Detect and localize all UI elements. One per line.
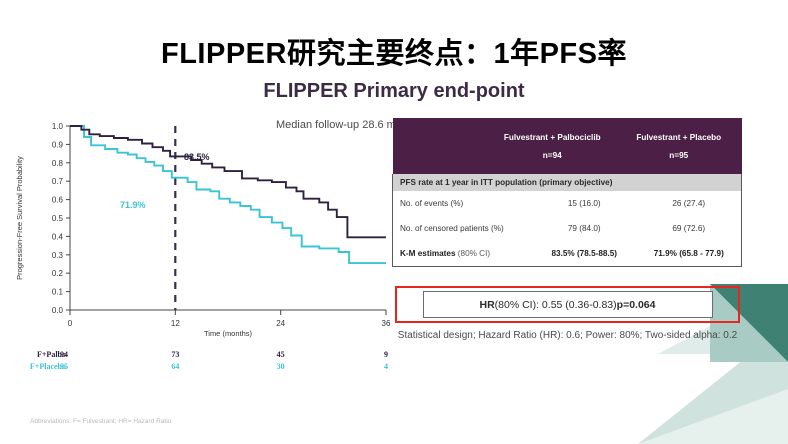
header-spacer bbox=[393, 118, 489, 174]
risk-row-value: 9 bbox=[373, 350, 399, 359]
row-value-palbociclib: 83.5% (78.5-88.5) bbox=[532, 249, 637, 258]
y-axis-title: Progression-Free Survival Probability bbox=[15, 156, 24, 280]
header-col-palbociclib: Fulvestrant + Palbociclib n=94 bbox=[489, 118, 616, 174]
table-section-band: PFS rate at 1 year in ITT population (pr… bbox=[393, 174, 741, 191]
results-table: Fulvestrant + Palbociclib n=94 Fulvestra… bbox=[393, 118, 742, 267]
risk-row-value: 95 bbox=[60, 362, 86, 371]
x-tick-label: 36 bbox=[382, 319, 391, 328]
y-tick-label: 0.8 bbox=[52, 159, 64, 168]
abbreviations-note: Abbreviations: F= Fulvestrant; HR= Hazar… bbox=[30, 418, 171, 425]
row-label-suffix: (80% CI) bbox=[456, 249, 491, 258]
x-tick-label: 12 bbox=[171, 319, 180, 328]
row-label: K-M estimates (80% CI) bbox=[393, 249, 532, 258]
x-tick-label: 24 bbox=[276, 319, 285, 328]
table-row: No. of events (%) 15 (16.0) 26 (27.4) bbox=[393, 191, 741, 216]
row-value-placebo: 26 (27.4) bbox=[637, 199, 742, 208]
row-label-part: K-M bbox=[400, 249, 418, 258]
hr-pvalue: p=0.064 bbox=[617, 299, 656, 311]
row-value-palbociclib: 79 (84.0) bbox=[532, 224, 637, 233]
x-tick-label: 0 bbox=[68, 319, 73, 328]
header-col-placebo: Fulvestrant + Placebo n=95 bbox=[616, 118, 743, 174]
y-tick-label: 0.3 bbox=[52, 251, 64, 260]
hazard-ratio-value-box: HR (80% CI): 0.55 (0.36-0.83) p=0.064 bbox=[423, 291, 713, 318]
x-axis-title: Time (months) bbox=[204, 329, 253, 338]
row-value-placebo: 71.9% (65.8 - 77.9) bbox=[637, 249, 742, 258]
row-value-palbociclib: 15 (16.0) bbox=[532, 199, 637, 208]
y-tick-label: 0.2 bbox=[52, 269, 64, 278]
annotation-71-9-percent: 71.9% bbox=[120, 200, 146, 210]
y-tick-label: 0.7 bbox=[52, 177, 64, 186]
y-tick-label: 0.0 bbox=[52, 306, 64, 315]
risk-row-value: 4 bbox=[373, 362, 399, 371]
table-row: K-M estimates (80% CI) 83.5% (78.5-88.5)… bbox=[393, 241, 741, 266]
header-arm-n: n=95 bbox=[669, 151, 688, 160]
risk-row-value: 30 bbox=[268, 362, 294, 371]
hazard-ratio-highlight-box: HR (80% CI): 0.55 (0.36-0.83) p=0.064 bbox=[395, 286, 740, 323]
row-value-placebo: 69 (72.6) bbox=[637, 224, 742, 233]
risk-row-value: 45 bbox=[268, 350, 294, 359]
km-curve-palbociclib bbox=[70, 126, 386, 237]
risk-row-value: 94 bbox=[60, 350, 86, 359]
kaplan-meier-chart: 0.00.10.20.30.40.50.60.70.80.91.0 012243… bbox=[8, 112, 400, 342]
header-arm-label: Fulvestrant + Palbociclib bbox=[504, 133, 601, 142]
numbers-at-risk-row: F+Placebo9564304 bbox=[8, 362, 400, 374]
page-title: FLIPPER研究主要终点：1年PFS率 bbox=[0, 30, 788, 72]
km-curve-placebo bbox=[70, 126, 386, 263]
y-tick-label: 1.0 bbox=[52, 122, 64, 131]
y-tick-label: 0.6 bbox=[52, 196, 64, 205]
y-tick-label: 0.1 bbox=[52, 288, 64, 297]
page-subtitle: FLIPPER Primary end-point bbox=[0, 80, 788, 103]
y-tick-label: 0.4 bbox=[52, 232, 64, 241]
statistical-design-note: Statistical design; Hazard Ratio (HR): 0… bbox=[393, 329, 742, 343]
numbers-at-risk-row: F+Palbo9473459 bbox=[8, 350, 400, 362]
header-arm-n: n=94 bbox=[543, 151, 562, 160]
results-table-header: Fulvestrant + Palbociclib n=94 Fulvestra… bbox=[393, 118, 742, 174]
risk-row-value: 64 bbox=[162, 362, 188, 371]
header-arm-label: Fulvestrant + Placebo bbox=[636, 133, 721, 142]
risk-row-value: 73 bbox=[162, 350, 188, 359]
numbers-at-risk-table: F+Palbo9473459F+Placebo9564304 bbox=[8, 350, 400, 374]
row-label: No. of events (%) bbox=[393, 199, 532, 208]
y-tick-label: 0.9 bbox=[52, 140, 64, 149]
results-table-body: PFS rate at 1 year in ITT population (pr… bbox=[392, 174, 742, 267]
row-label-emphasis: estimates bbox=[418, 249, 456, 258]
y-tick-label: 0.5 bbox=[52, 214, 64, 223]
annotation-83-5-percent: 83.5% bbox=[184, 152, 210, 162]
hr-text: (80% CI): 0.55 (0.36-0.83) bbox=[495, 299, 617, 311]
row-label: No. of censored patients (%) bbox=[393, 224, 532, 233]
hr-prefix: HR bbox=[480, 299, 495, 311]
table-row: No. of censored patients (%) 79 (84.0) 6… bbox=[393, 216, 741, 241]
